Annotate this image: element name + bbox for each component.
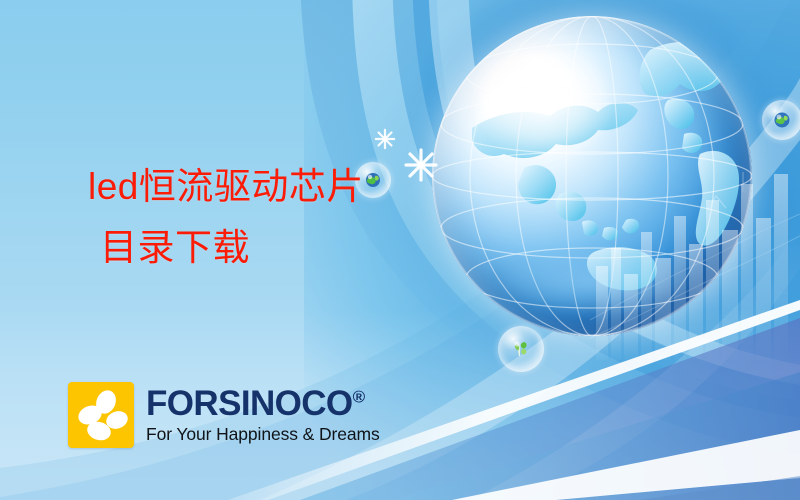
brand-logo: FORSINOCO® For Your Happiness & Dreams [68, 382, 380, 448]
pinwheel-logo-icon [68, 382, 134, 448]
brand-name: FORSINOCO® [146, 386, 380, 421]
headline-line-1: led恒流驱动芯片 [88, 166, 508, 207]
headline-line-2: 目录下载 [100, 227, 508, 268]
registered-trademark-icon: ® [353, 387, 366, 406]
brand-text: FORSINOCO® For Your Happiness & Dreams [146, 382, 380, 444]
headline: led恒流驱动芯片 目录下载 [88, 166, 508, 269]
brand-tagline: For Your Happiness & Dreams [146, 426, 380, 444]
promotional-banner: led恒流驱动芯片 目录下载 FORSINOCO® For Your Happi… [0, 0, 800, 500]
brand-name-word: FORSINOCO [146, 384, 353, 423]
